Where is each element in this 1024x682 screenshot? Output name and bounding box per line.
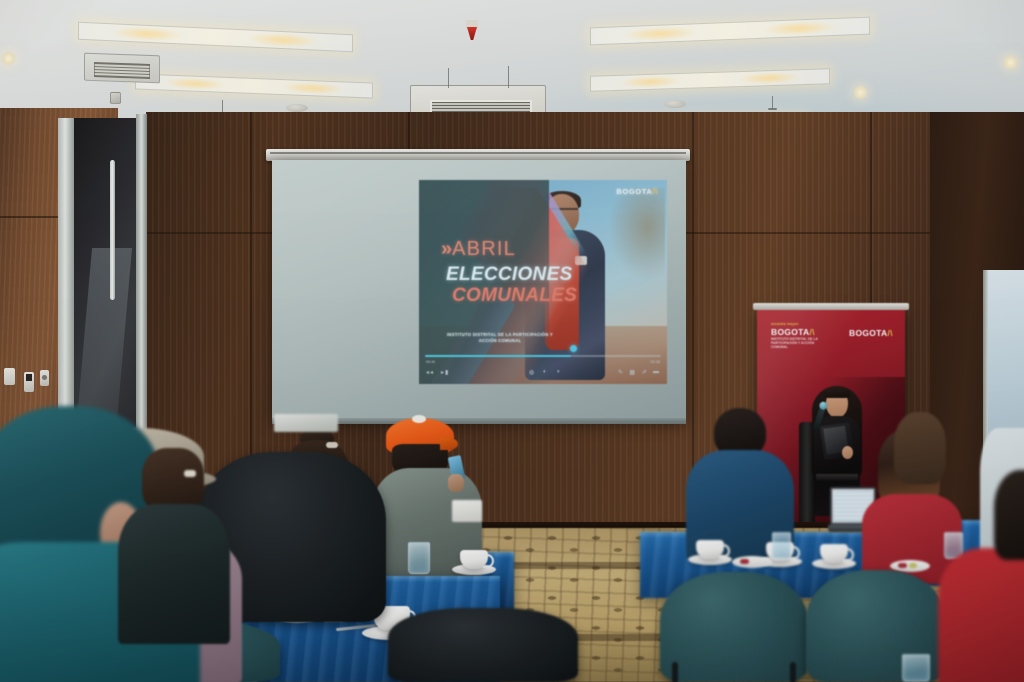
edit-icon[interactable]: ✎ [618, 369, 623, 376]
wall-switch[interactable] [40, 370, 49, 386]
ac-support-rod [448, 68, 449, 88]
elapsed-time-label: 00:41 [426, 360, 436, 364]
ac-vent [84, 53, 160, 84]
banner-logo-secondary: BOGOTA/\ [849, 328, 895, 338]
water-glass [408, 542, 430, 574]
downlight [854, 86, 867, 99]
coffee-cup [696, 540, 724, 559]
dessert-plate [732, 556, 772, 568]
slide-headline-line2: COMUNALES [452, 285, 577, 307]
conference-room-photo: BOGOTA/\ »ABRIL ELECCIONES COMUNALES INS… [0, 0, 1024, 682]
hair-clip-icon [184, 470, 196, 477]
volume-icon[interactable]: ◍ [529, 369, 535, 376]
grid-icon[interactable]: ▦ [629, 369, 635, 376]
ceiling-hook [772, 96, 773, 109]
info-icon[interactable]: ◐ [543, 369, 548, 375]
cap-button [412, 415, 426, 423]
coffee-cup [820, 544, 848, 563]
downlight [1004, 56, 1017, 69]
progress-track[interactable] [425, 355, 661, 357]
ceiling-dome-light [664, 100, 686, 108]
slide-bogota-logo-accent: /\ [652, 187, 658, 196]
audience-body [118, 504, 230, 644]
media-player-controls[interactable]: 00:41 03:18 ◂◂ ▸▮ ◍ ◐ ◑ ✎ ▦ ✐ ▬ [419, 348, 667, 384]
banner-logo-primary-text: BOGOTA [771, 327, 809, 337]
audience-head [994, 470, 1024, 560]
more-icon[interactable]: ▬ [653, 369, 659, 375]
chair[interactable] [660, 572, 808, 682]
chair-leg [790, 662, 796, 682]
banner-logo-primary-sub: INSTITUTO DISTRITAL DE LA PARTICIPACIÓN … [771, 337, 819, 350]
door-handle[interactable] [110, 160, 115, 300]
wall-switch[interactable] [4, 368, 15, 385]
slide-bogota-logo-text: BOGOTA [616, 187, 652, 196]
chair-leg [672, 662, 678, 682]
slide-month-arrows: » [441, 238, 450, 260]
pen-icon[interactable]: ✐ [642, 369, 647, 376]
ac-support-rod [508, 66, 509, 88]
napkin [452, 500, 482, 522]
coffee-cup [460, 550, 488, 569]
hand [448, 474, 464, 492]
slide-headline-line1: ELECCIONES [446, 264, 573, 286]
wall-monitor [274, 414, 338, 432]
audience-member-foreground-dark [994, 470, 1024, 600]
water-glass [772, 532, 791, 559]
slide-subtitle: INSTITUTO DISTRITAL DE LA PARTICIPACIÓN … [445, 332, 555, 344]
audience-member-blonde [884, 412, 956, 522]
banner-logo-primary: alcaldía mayor BOGOTA/\ INSTITUTO DISTRI… [771, 322, 819, 350]
chair[interactable] [388, 608, 578, 682]
play-icon[interactable]: ▸▮ [441, 369, 449, 376]
banner-logo-primary-main: BOGOTA/\ [771, 327, 819, 337]
banner-logo-primary-accent: /\ [809, 327, 814, 337]
banner-top-rail [753, 303, 909, 310]
water-glass [902, 654, 930, 682]
banner-logo-secondary-main: BOGOTA/\ [849, 328, 895, 338]
progress-handle[interactable] [570, 345, 577, 352]
projected-slide: BOGOTA/\ »ABRIL ELECCIONES COMUNALES INS… [419, 180, 667, 384]
slide-month-text: ABRIL [452, 238, 516, 260]
audience-head [894, 412, 946, 484]
ceiling-speaker [110, 92, 121, 104]
audience-member-dark-blazer [118, 448, 228, 638]
banner-logo-secondary-accent: /\ [887, 328, 892, 338]
downlight [2, 52, 15, 65]
ceiling-dome-light [286, 104, 308, 112]
cc-icon[interactable]: ◑ [556, 369, 561, 375]
total-time-label: 03:18 [651, 360, 661, 364]
cap-brim [440, 438, 458, 450]
fire-sprinkler-icon [466, 20, 478, 29]
slide-month-label: »ABRIL [441, 238, 516, 261]
hair-clip-icon [326, 442, 338, 448]
rewind-icon[interactable]: ◂◂ [426, 369, 434, 376]
banner-logo-secondary-text: BOGOTA [849, 328, 887, 338]
wall-switch[interactable] [24, 372, 34, 392]
presenter-hand [842, 446, 853, 459]
slide-bogota-logo: BOGOTA/\ [616, 187, 658, 196]
progress-fill [425, 355, 571, 357]
